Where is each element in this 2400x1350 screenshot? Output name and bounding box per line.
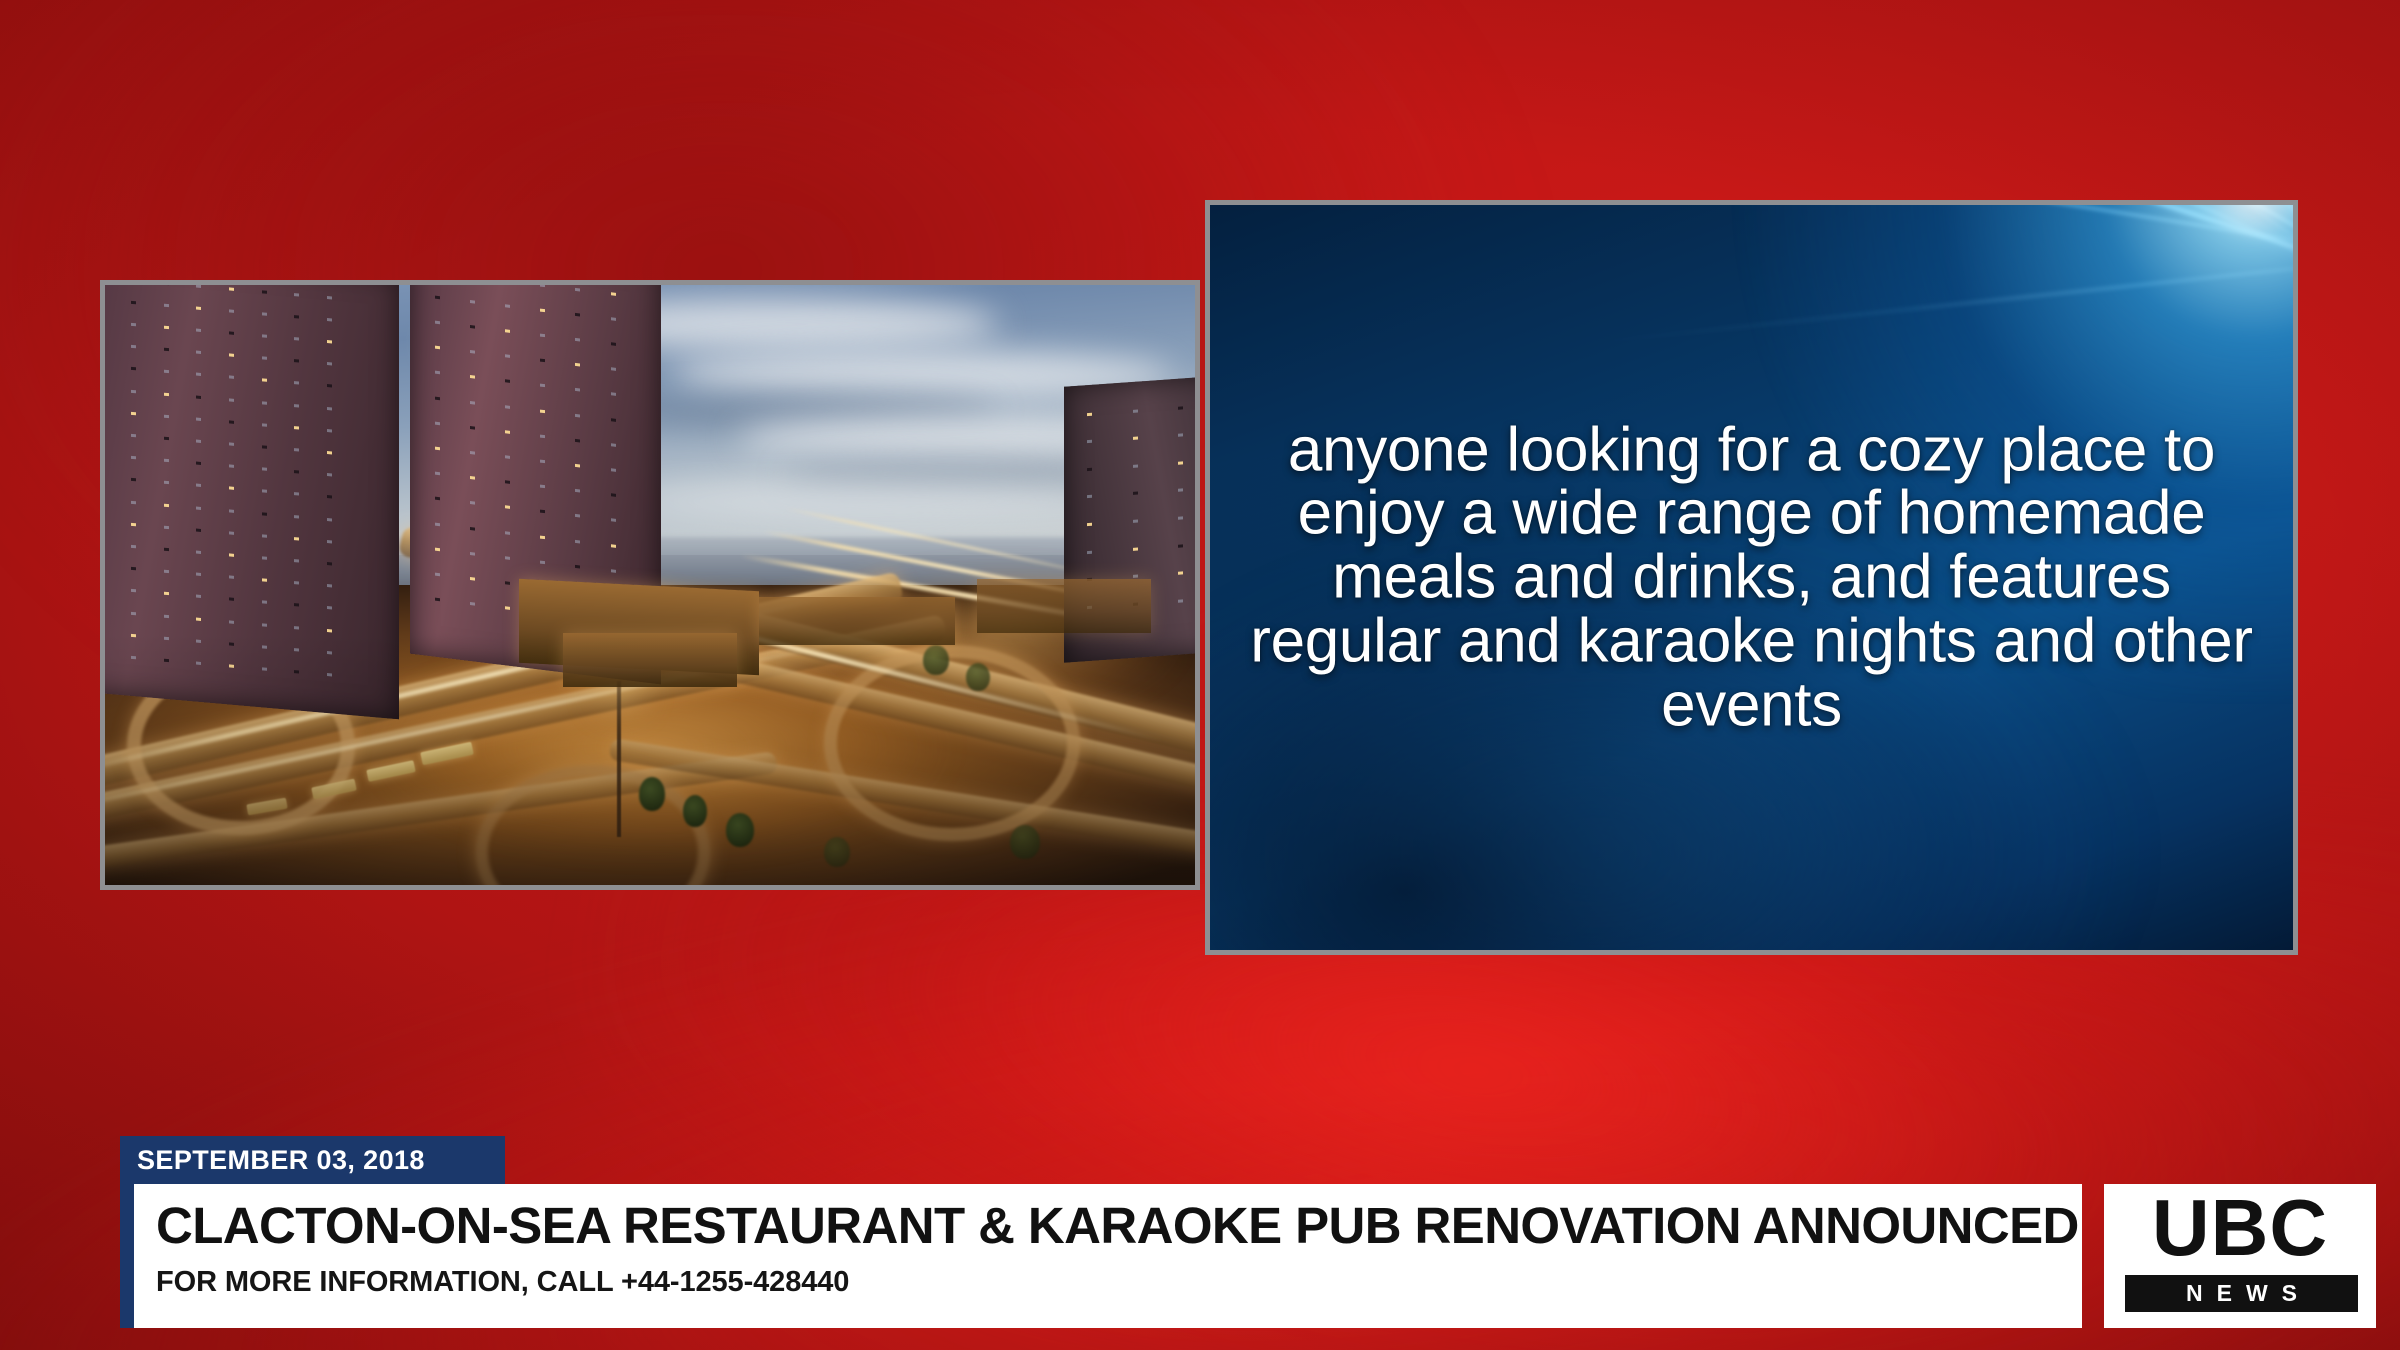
news-photo-content	[105, 285, 1195, 885]
subline-text: FOR MORE INFORMATION, CALL +44-1255-4284…	[156, 1266, 849, 1299]
logo-secondary-text: NEWS	[2125, 1275, 2358, 1312]
lower-third-bar: CLACTON-ON-SEA RESTAURANT & KARAOKE PUB …	[120, 1184, 2082, 1328]
photo-vignette	[105, 285, 1195, 885]
date-badge: SEPTEMBER 03, 2018	[120, 1136, 505, 1184]
logo-primary-text: UBC	[2104, 1191, 2376, 1265]
broadcast-screen: anyone looking for a cozy place to enjoy…	[0, 0, 2400, 1350]
quote-panel: anyone looking for a cozy place to enjoy…	[1205, 200, 2298, 955]
headline-text: CLACTON-ON-SEA RESTAURANT & KARAOKE PUB …	[156, 1196, 2079, 1255]
date-badge-label: SEPTEMBER 03, 2018	[137, 1145, 425, 1176]
network-logo: UBC NEWS	[2104, 1184, 2376, 1328]
news-photo	[100, 280, 1200, 890]
quote-text: anyone looking for a cozy place to enjoy…	[1250, 418, 2253, 737]
